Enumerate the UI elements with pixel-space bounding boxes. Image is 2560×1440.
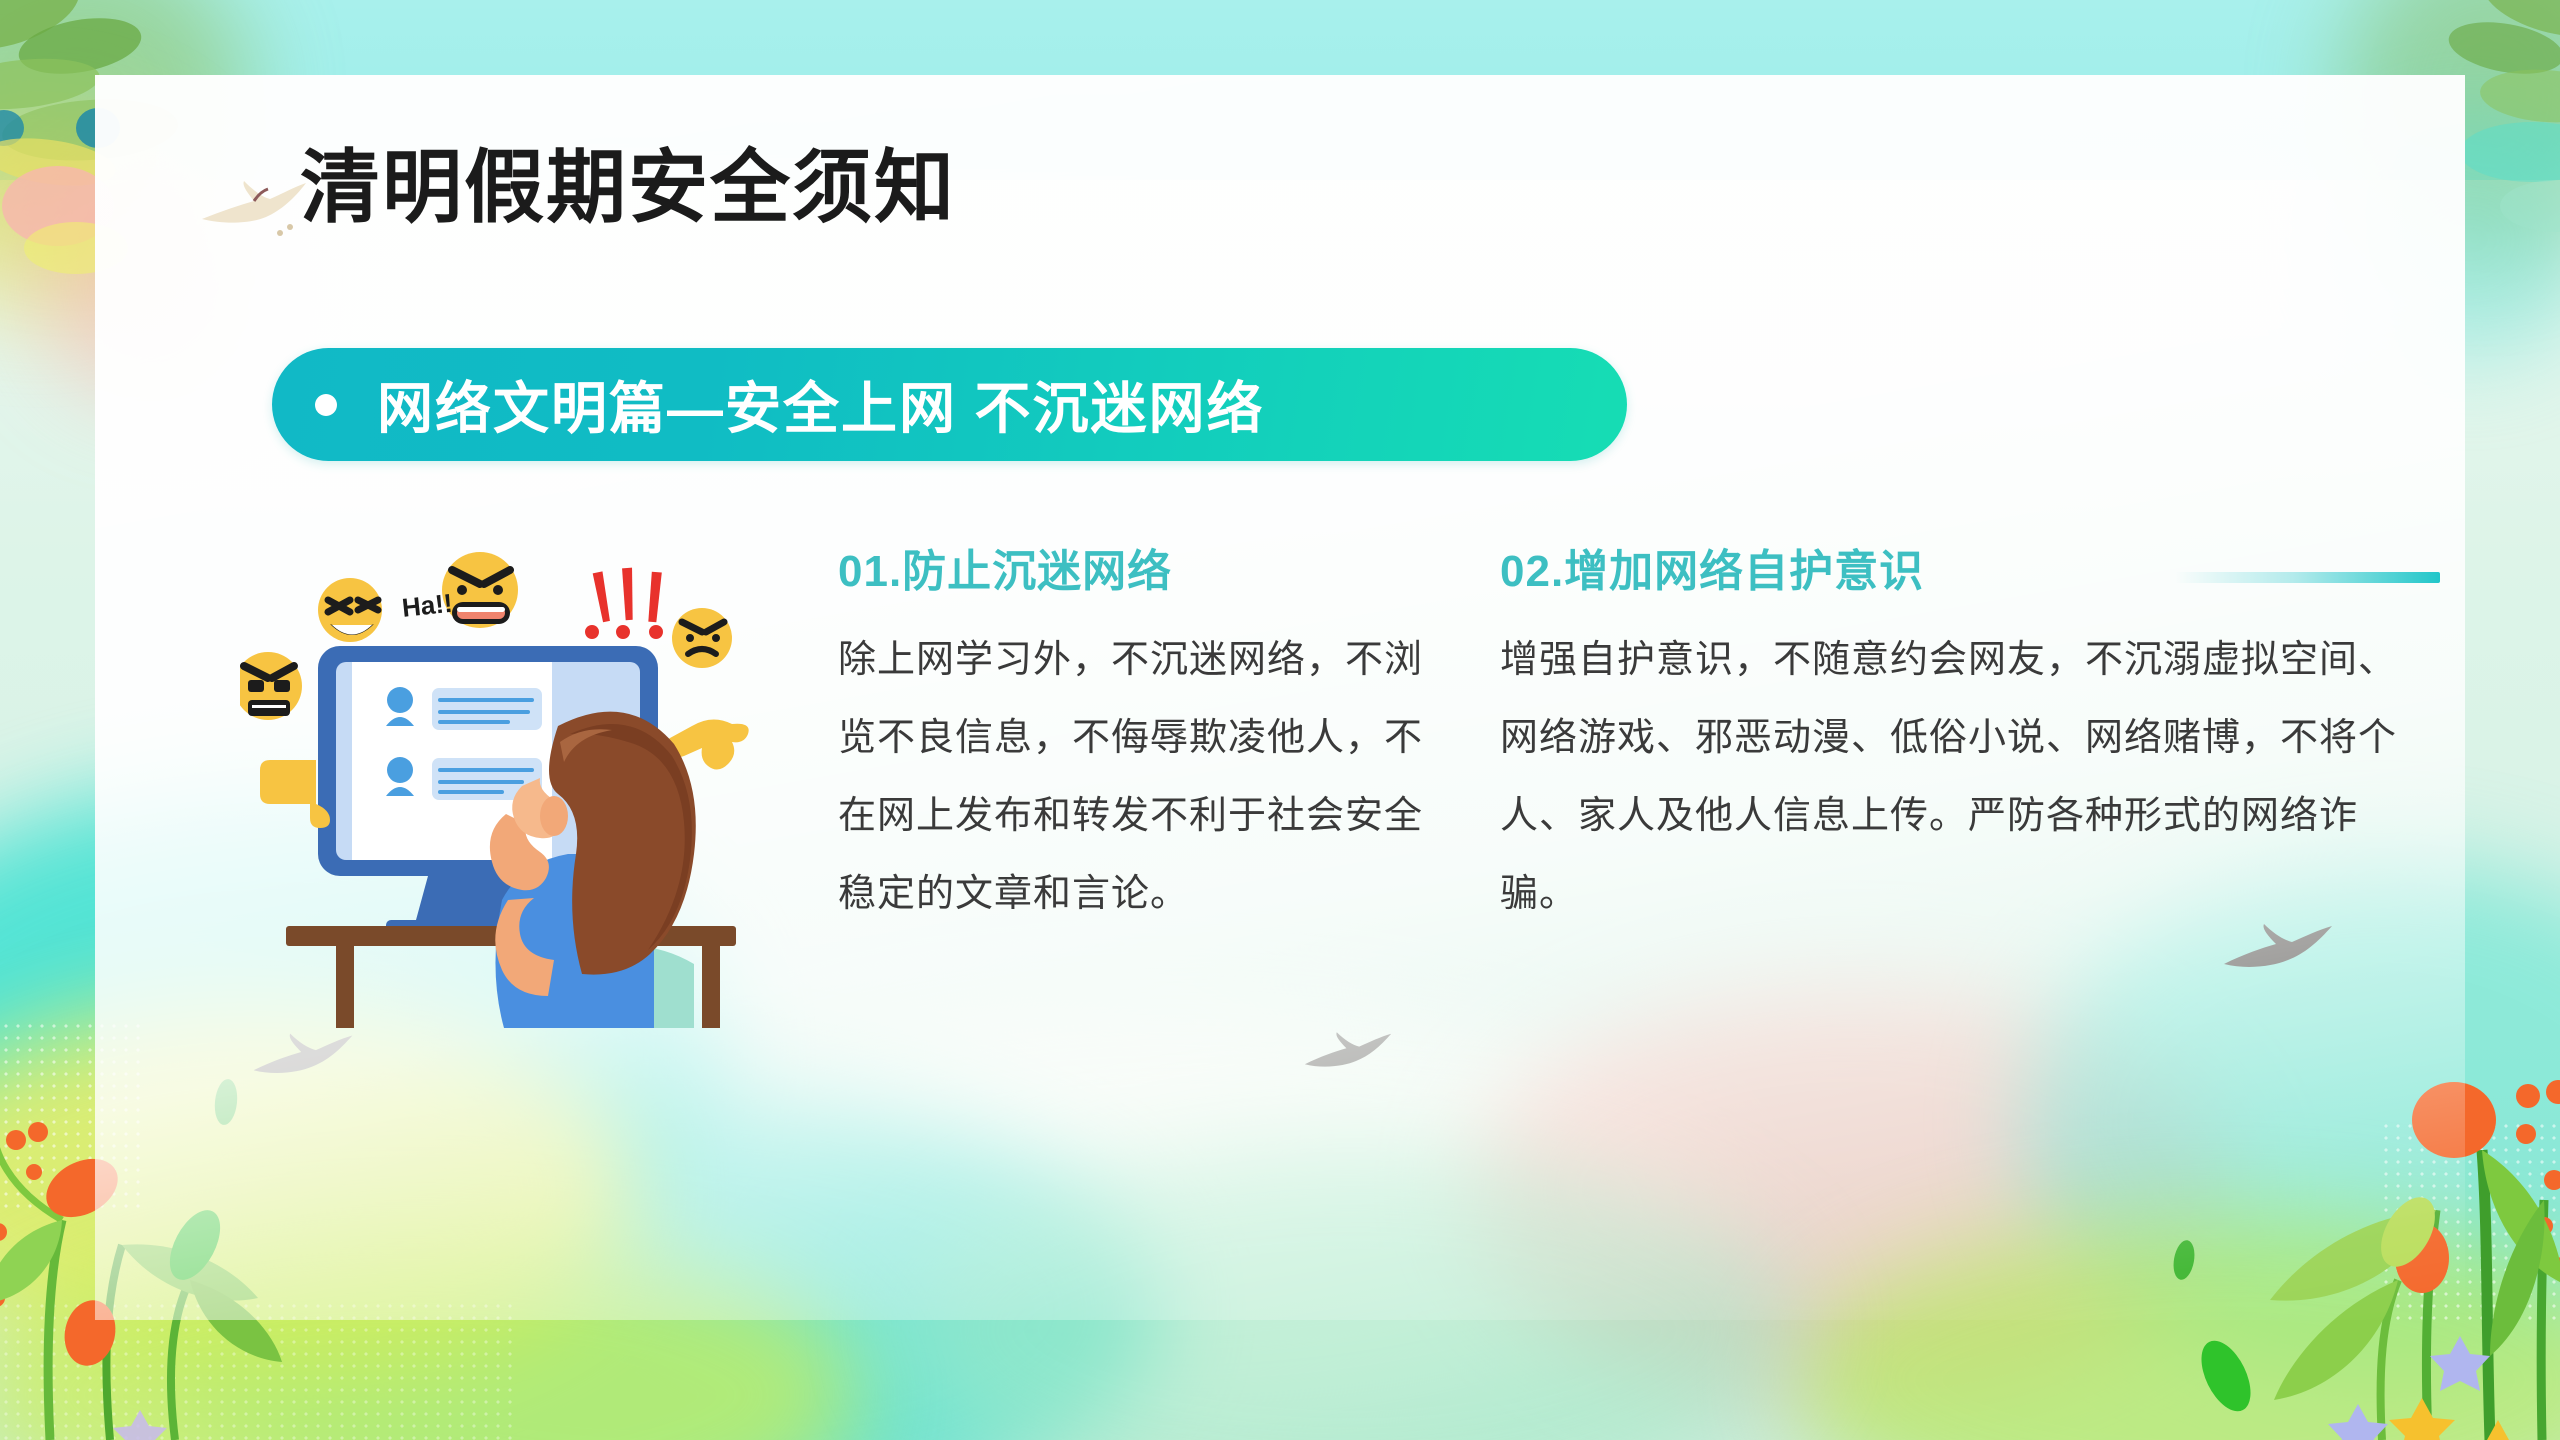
speech-text-ha: Ha!! — [400, 588, 453, 623]
content-column-02: 02.增加网络自护意识 增强自护意识，不随意约会网友，不沉溺虚拟空间、网络游戏、… — [1500, 548, 2400, 934]
banner-label: 网络文明篇—安全上网 不沉迷网络 — [377, 364, 1265, 445]
column-02-body: 增强自护意识，不随意约会网友，不沉溺虚拟空间、网络游戏、邪恶动漫、低俗小说、网络… — [1500, 622, 2400, 934]
page-title: 清明假期安全须知 — [300, 148, 956, 228]
column-01-heading: 01.防止沉迷网络 — [838, 548, 1458, 596]
angry-emoji-icon-left — [240, 652, 302, 720]
section-banner[interactable]: 网络文明篇—安全上网 不沉迷网络 — [272, 348, 1627, 461]
column-02-heading: 02.增加网络自护意识 — [1500, 548, 2400, 596]
illustration-girl-at-computer: Ha!! — [240, 528, 760, 1028]
laughing-emoji-icon — [318, 578, 382, 642]
title-swallow-icon — [198, 175, 308, 245]
angry-emoji-icon-right — [672, 608, 732, 668]
svg-text:Ha!!: Ha!! — [400, 588, 453, 623]
content-column-01: 01.防止沉迷网络 除上网学习外，不沉迷网络，不浏览不良信息，不侮辱欺凌他人，不… — [838, 548, 1458, 934]
banner-bullet-icon — [315, 394, 337, 416]
exclamation-marks-icon — [585, 568, 663, 639]
column-01-body: 除上网学习外，不沉迷网络，不浏览不良信息，不侮辱欺凌他人，不在网上发布和转发不利… — [838, 622, 1458, 934]
